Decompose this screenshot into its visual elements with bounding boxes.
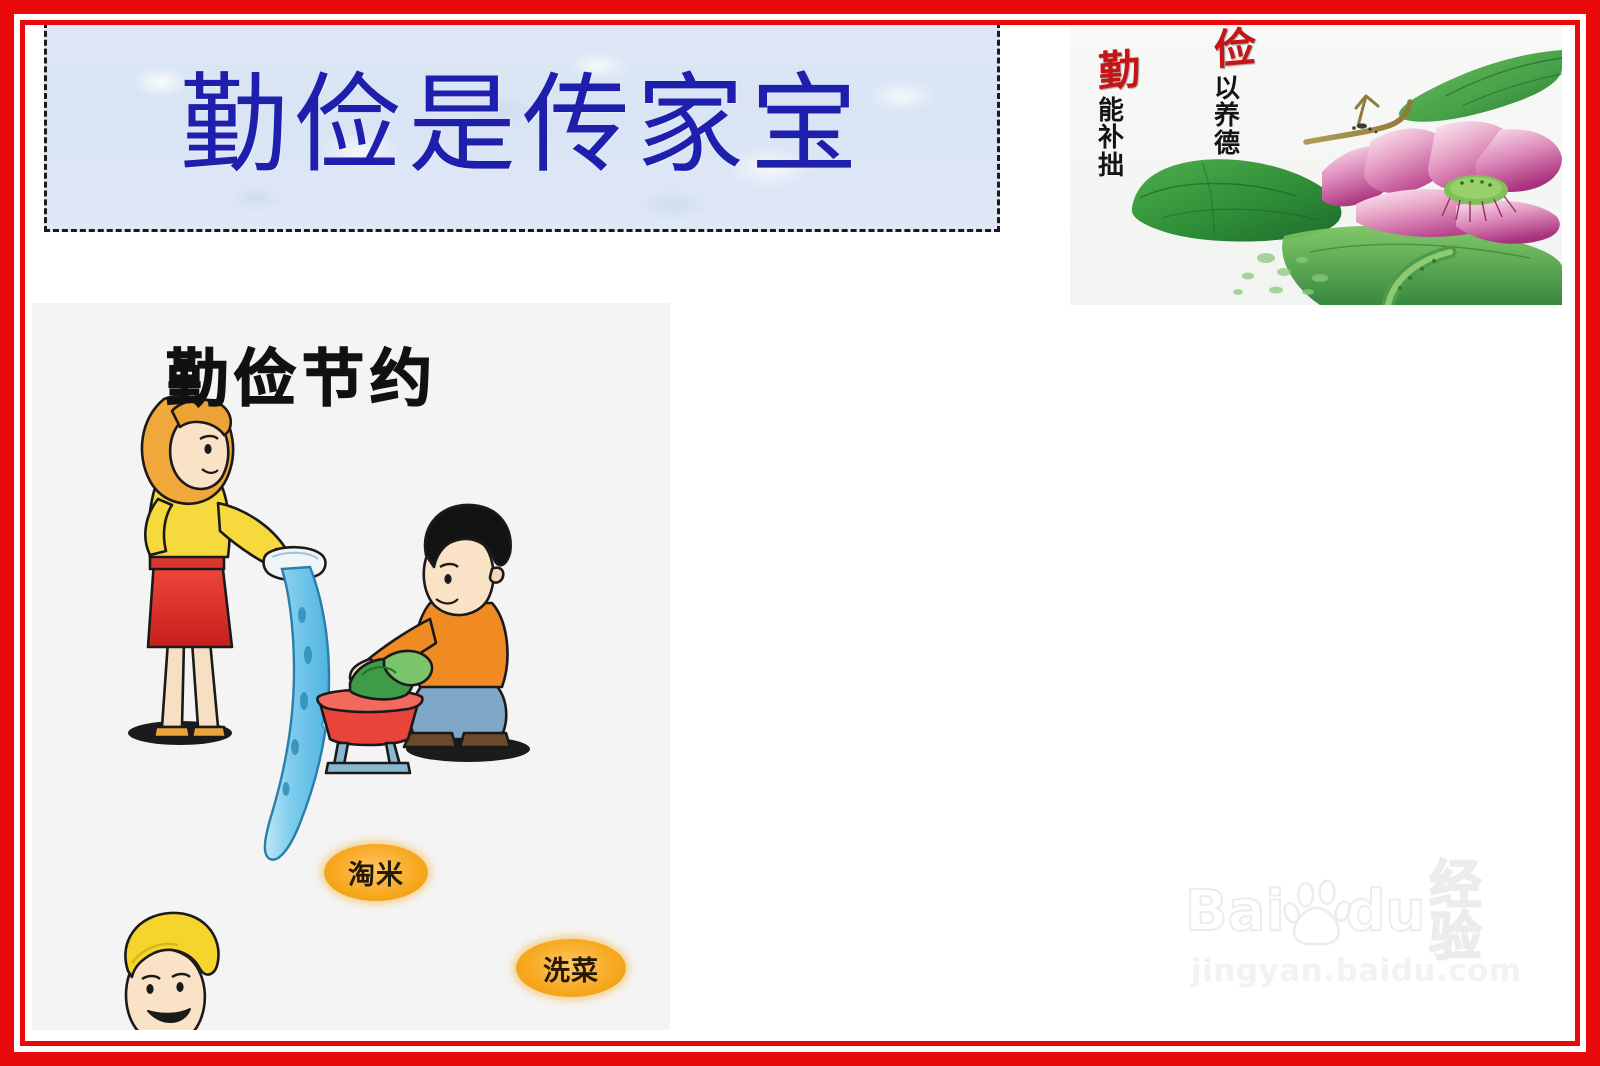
lotus-couplet-2-lead: 俭 <box>1214 29 1234 74</box>
illustration-tag-wash-vegetables: 洗菜 <box>516 939 626 997</box>
lotus-couplet-2-rest: 以养德 <box>1214 76 1233 159</box>
slide-canvas: 勤俭是传家宝 <box>0 0 1600 1066</box>
lotus-couplet-column-2: 俭 以养德 <box>1214 30 1233 158</box>
illustration-tag-wash-rice: 淘米 <box>324 844 428 901</box>
lotus-illustration-graphic <box>1070 20 1562 305</box>
lotus-couplet-1-lead: 勤 <box>1098 51 1118 96</box>
water-saving-illustration: 勤俭节约 <box>32 303 670 1030</box>
lotus-couplet-column-1: 勤 能补拙 <box>1098 52 1117 180</box>
lotus-calligraphy-image: 勤 能补拙 俭 以养德 <box>1070 20 1562 305</box>
illustration-heading: 勤俭节约 <box>166 348 438 410</box>
lotus-couplet-1-rest: 能补拙 <box>1098 98 1117 181</box>
slide-title-box: 勤俭是传家宝 <box>44 22 1000 232</box>
page-title: 勤俭是传家宝 <box>180 73 864 181</box>
